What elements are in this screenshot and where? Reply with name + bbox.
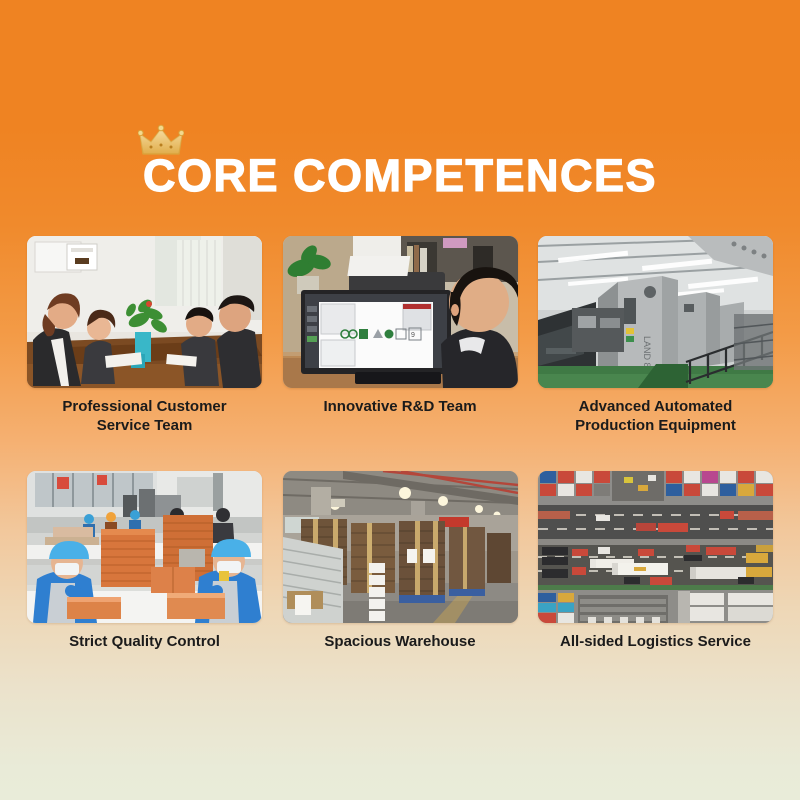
competence-grid: Professional Customer Service Team bbox=[27, 236, 773, 651]
caption-line-1: All-sided Logistics Service bbox=[538, 632, 773, 651]
all-sided-logistics-service-photo[interactable] bbox=[538, 471, 773, 623]
banner-header: CORE COMPETENCES bbox=[0, 150, 800, 202]
caption-line-1: Spacious Warehouse bbox=[283, 632, 518, 651]
spacious-warehouse-photo[interactable] bbox=[283, 471, 518, 623]
card-caption: Spacious Warehouse bbox=[283, 632, 518, 651]
card-caption: Professional Customer Service Team bbox=[27, 397, 262, 435]
card-caption: All-sided Logistics Service bbox=[538, 632, 773, 651]
strict-quality-control-photo[interactable] bbox=[27, 471, 262, 623]
innovative-rd-team-photo[interactable]: 9 bbox=[283, 236, 518, 388]
card-caption: Strict Quality Control bbox=[27, 632, 262, 651]
caption-line-1: Advanced Automated bbox=[538, 397, 773, 416]
card-caption: Advanced Automated Production Equipment bbox=[538, 397, 773, 435]
core-competences-banner: CORE COMPETENCES bbox=[0, 0, 800, 800]
competence-card[interactable]: All-sided Logistics Service bbox=[538, 471, 773, 651]
competence-card[interactable]: Spacious Warehouse bbox=[283, 471, 518, 651]
caption-line-2: Service Team bbox=[27, 416, 262, 435]
card-caption: Innovative R&D Team bbox=[283, 397, 518, 416]
professional-customer-service-team-photo[interactable] bbox=[27, 236, 262, 388]
grid-row-1: Professional Customer Service Team bbox=[27, 236, 773, 435]
competence-card[interactable]: Professional Customer Service Team bbox=[27, 236, 262, 435]
caption-line-2: Production Equipment bbox=[538, 416, 773, 435]
competence-card[interactable]: LAND 800 bbox=[538, 236, 773, 435]
svg-text:9: 9 bbox=[411, 332, 415, 339]
page-title: CORE COMPETENCES bbox=[143, 150, 657, 202]
title-wrap: CORE COMPETENCES bbox=[143, 150, 657, 202]
caption-line-1: Professional Customer bbox=[27, 397, 262, 416]
competence-card[interactable]: Strict Quality Control bbox=[27, 471, 262, 651]
competence-card[interactable]: 9 Inn bbox=[283, 236, 518, 435]
advanced-automated-production-equipment-photo[interactable]: LAND 800 bbox=[538, 236, 773, 388]
grid-row-2: Strict Quality Control bbox=[27, 471, 773, 651]
caption-line-1: Strict Quality Control bbox=[27, 632, 262, 651]
caption-line-1: Innovative R&D Team bbox=[283, 397, 518, 416]
